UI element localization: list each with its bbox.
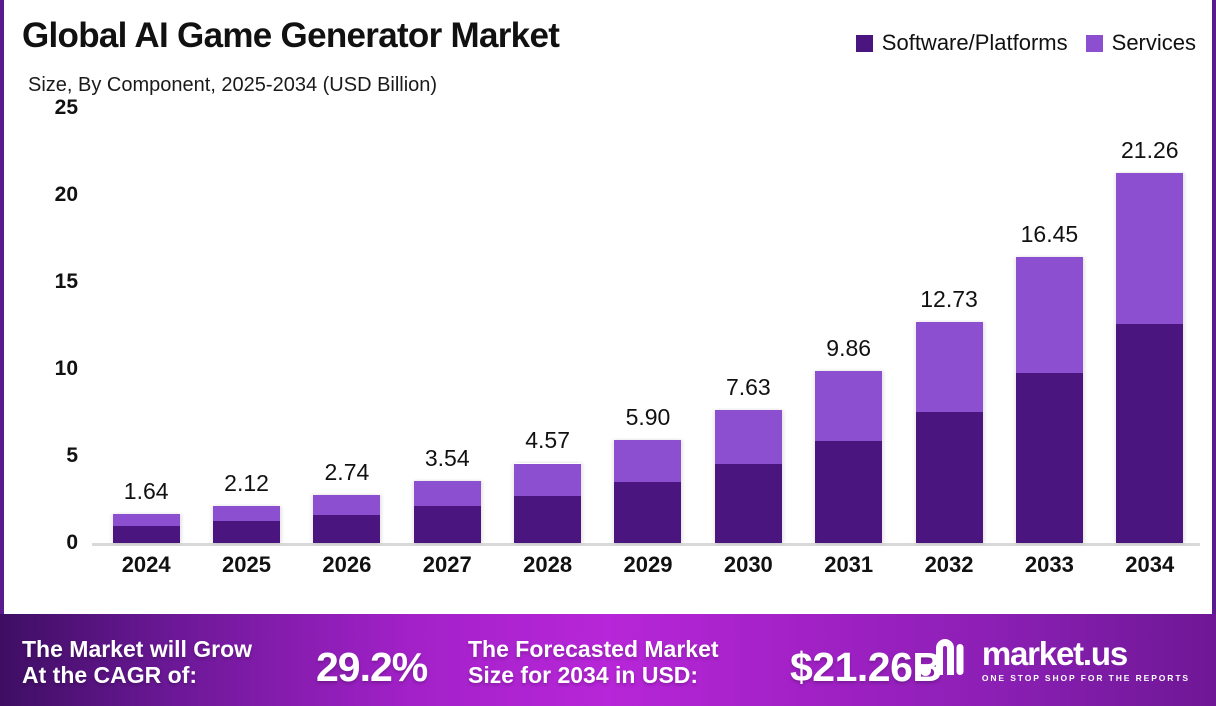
bar-value-label: 16.45 xyxy=(1021,221,1079,248)
bar-segment-services[interactable] xyxy=(815,371,882,441)
bar-stack[interactable] xyxy=(1016,257,1083,543)
y-axis-tick-0: 0 xyxy=(66,531,78,555)
bar-group-2026[interactable]: 2.74 xyxy=(301,108,393,543)
x-axis-tick-2027: 2027 xyxy=(401,552,493,578)
bar-segment-software-platforms[interactable] xyxy=(1016,373,1083,543)
bar-segment-services[interactable] xyxy=(514,464,581,496)
bar-segment-software-platforms[interactable] xyxy=(1116,324,1183,543)
bar-segment-software-platforms[interactable] xyxy=(715,464,782,543)
bar-value-label: 4.57 xyxy=(525,427,570,454)
bar-segment-software-platforms[interactable] xyxy=(815,441,882,543)
summary-footer: The Market will Grow At the CAGR of: 29.… xyxy=(0,614,1216,706)
x-axis-tick-2032: 2032 xyxy=(903,552,995,578)
bar-value-label: 1.64 xyxy=(124,478,169,505)
bar-group-2032[interactable]: 12.73 xyxy=(903,108,995,543)
bar-value-label: 9.86 xyxy=(826,335,871,362)
bar-segment-software-platforms[interactable] xyxy=(213,521,280,543)
x-axis-tick-2030: 2030 xyxy=(702,552,794,578)
bar-segment-software-platforms[interactable] xyxy=(916,412,983,543)
bar-segment-services[interactable] xyxy=(213,506,280,521)
y-axis-tick-25: 25 xyxy=(55,96,78,120)
bar-segment-services[interactable] xyxy=(414,481,481,506)
brand-tagline: ONE STOP SHOP FOR THE REPORTS xyxy=(982,673,1190,683)
bar-stack[interactable] xyxy=(715,410,782,543)
chart-legend: Software/PlatformsServices xyxy=(856,30,1196,56)
bar-segment-software-platforms[interactable] xyxy=(113,526,180,543)
bar-stack[interactable] xyxy=(213,506,280,543)
bar-group-2025[interactable]: 2.12 xyxy=(201,108,293,543)
y-axis-tick-5: 5 xyxy=(66,444,78,468)
cagr-label: The Market will Grow At the CAGR of: xyxy=(22,636,252,688)
bar-value-label: 2.74 xyxy=(325,459,370,486)
bar-stack[interactable] xyxy=(113,514,180,543)
market-us-bars-icon xyxy=(919,636,971,684)
bar-group-2027[interactable]: 3.54 xyxy=(401,108,493,543)
bar-segment-services[interactable] xyxy=(1116,173,1183,324)
x-axis-tick-2031: 2031 xyxy=(803,552,895,578)
bar-stack[interactable] xyxy=(1116,173,1183,543)
cagr-value: 29.2% xyxy=(316,644,427,691)
y-axis: 0510152025 xyxy=(4,108,92,548)
bar-group-2028[interactable]: 4.57 xyxy=(502,108,594,543)
x-axis-tick-2024: 2024 xyxy=(100,552,192,578)
x-axis-tick-2025: 2025 xyxy=(201,552,293,578)
bar-group-2030[interactable]: 7.63 xyxy=(702,108,794,543)
bar-segment-services[interactable] xyxy=(313,495,380,514)
chart-header: Global AI Game Generator Market Size, By… xyxy=(4,0,1212,108)
bar-stack[interactable] xyxy=(815,371,882,543)
bar-value-label: 12.73 xyxy=(920,286,978,313)
bar-group-2031[interactable]: 9.86 xyxy=(803,108,895,543)
legend-label: Services xyxy=(1112,30,1196,56)
chart-infographic: Global AI Game Generator Market Size, By… xyxy=(0,0,1216,706)
y-axis-tick-20: 20 xyxy=(55,183,78,207)
bar-segment-services[interactable] xyxy=(715,410,782,464)
bar-stack[interactable] xyxy=(614,440,681,543)
x-axis: 2024202520262027202820292030203120322033… xyxy=(96,552,1200,592)
bar-value-label: 7.63 xyxy=(726,374,771,401)
legend-swatch-icon xyxy=(856,35,873,52)
legend-swatch-icon xyxy=(1086,35,1103,52)
x-axis-tick-2033: 2033 xyxy=(1003,552,1095,578)
bar-segment-software-platforms[interactable] xyxy=(313,515,380,543)
bar-value-label: 3.54 xyxy=(425,445,470,472)
bar-stack[interactable] xyxy=(916,322,983,544)
bar-segment-software-platforms[interactable] xyxy=(514,496,581,543)
bar-stack[interactable] xyxy=(514,463,581,543)
bar-group-2029[interactable]: 5.90 xyxy=(602,108,694,543)
bar-segment-services[interactable] xyxy=(916,322,983,412)
x-axis-tick-2029: 2029 xyxy=(602,552,694,578)
x-axis-tick-2034: 2034 xyxy=(1104,552,1196,578)
y-axis-tick-10: 10 xyxy=(55,357,78,381)
bar-segment-services[interactable] xyxy=(113,514,180,526)
x-axis-tick-2026: 2026 xyxy=(301,552,393,578)
bar-segment-services[interactable] xyxy=(1016,257,1083,373)
legend-label: Software/Platforms xyxy=(882,30,1068,56)
bar-series-container: 1.642.122.743.544.575.907.639.8612.7316.… xyxy=(96,108,1200,543)
y-axis-tick-15: 15 xyxy=(55,270,78,294)
brand-logo[interactable]: market.us ONE STOP SHOP FOR THE REPORTS xyxy=(919,636,1190,684)
legend-item-software-platforms[interactable]: Software/Platforms xyxy=(856,30,1068,56)
bar-stack[interactable] xyxy=(313,495,380,543)
bar-segment-software-platforms[interactable] xyxy=(414,506,481,543)
brand-name: market.us xyxy=(982,637,1190,670)
bar-segment-software-platforms[interactable] xyxy=(614,482,681,543)
legend-item-services[interactable]: Services xyxy=(1086,30,1196,56)
bar-value-label: 2.12 xyxy=(224,470,269,497)
forecast-size-label: The Forecasted Market Size for 2034 in U… xyxy=(468,636,719,688)
x-axis-tick-2028: 2028 xyxy=(502,552,594,578)
bar-value-label: 21.26 xyxy=(1121,137,1179,164)
bar-group-2034[interactable]: 21.26 xyxy=(1104,108,1196,543)
bar-segment-services[interactable] xyxy=(614,440,681,482)
bar-group-2024[interactable]: 1.64 xyxy=(100,108,192,543)
chart-subtitle: Size, By Component, 2025-2034 (USD Billi… xyxy=(28,74,437,97)
bar-stack[interactable] xyxy=(414,481,481,543)
bar-group-2033[interactable]: 16.45 xyxy=(1003,108,1095,543)
plot-area: 0510152025 1.642.122.743.544.575.907.639… xyxy=(4,108,1212,603)
bar-value-label: 5.90 xyxy=(626,404,671,431)
x-axis-baseline xyxy=(92,543,1200,546)
page-title: Global AI Game Generator Market xyxy=(22,16,559,56)
